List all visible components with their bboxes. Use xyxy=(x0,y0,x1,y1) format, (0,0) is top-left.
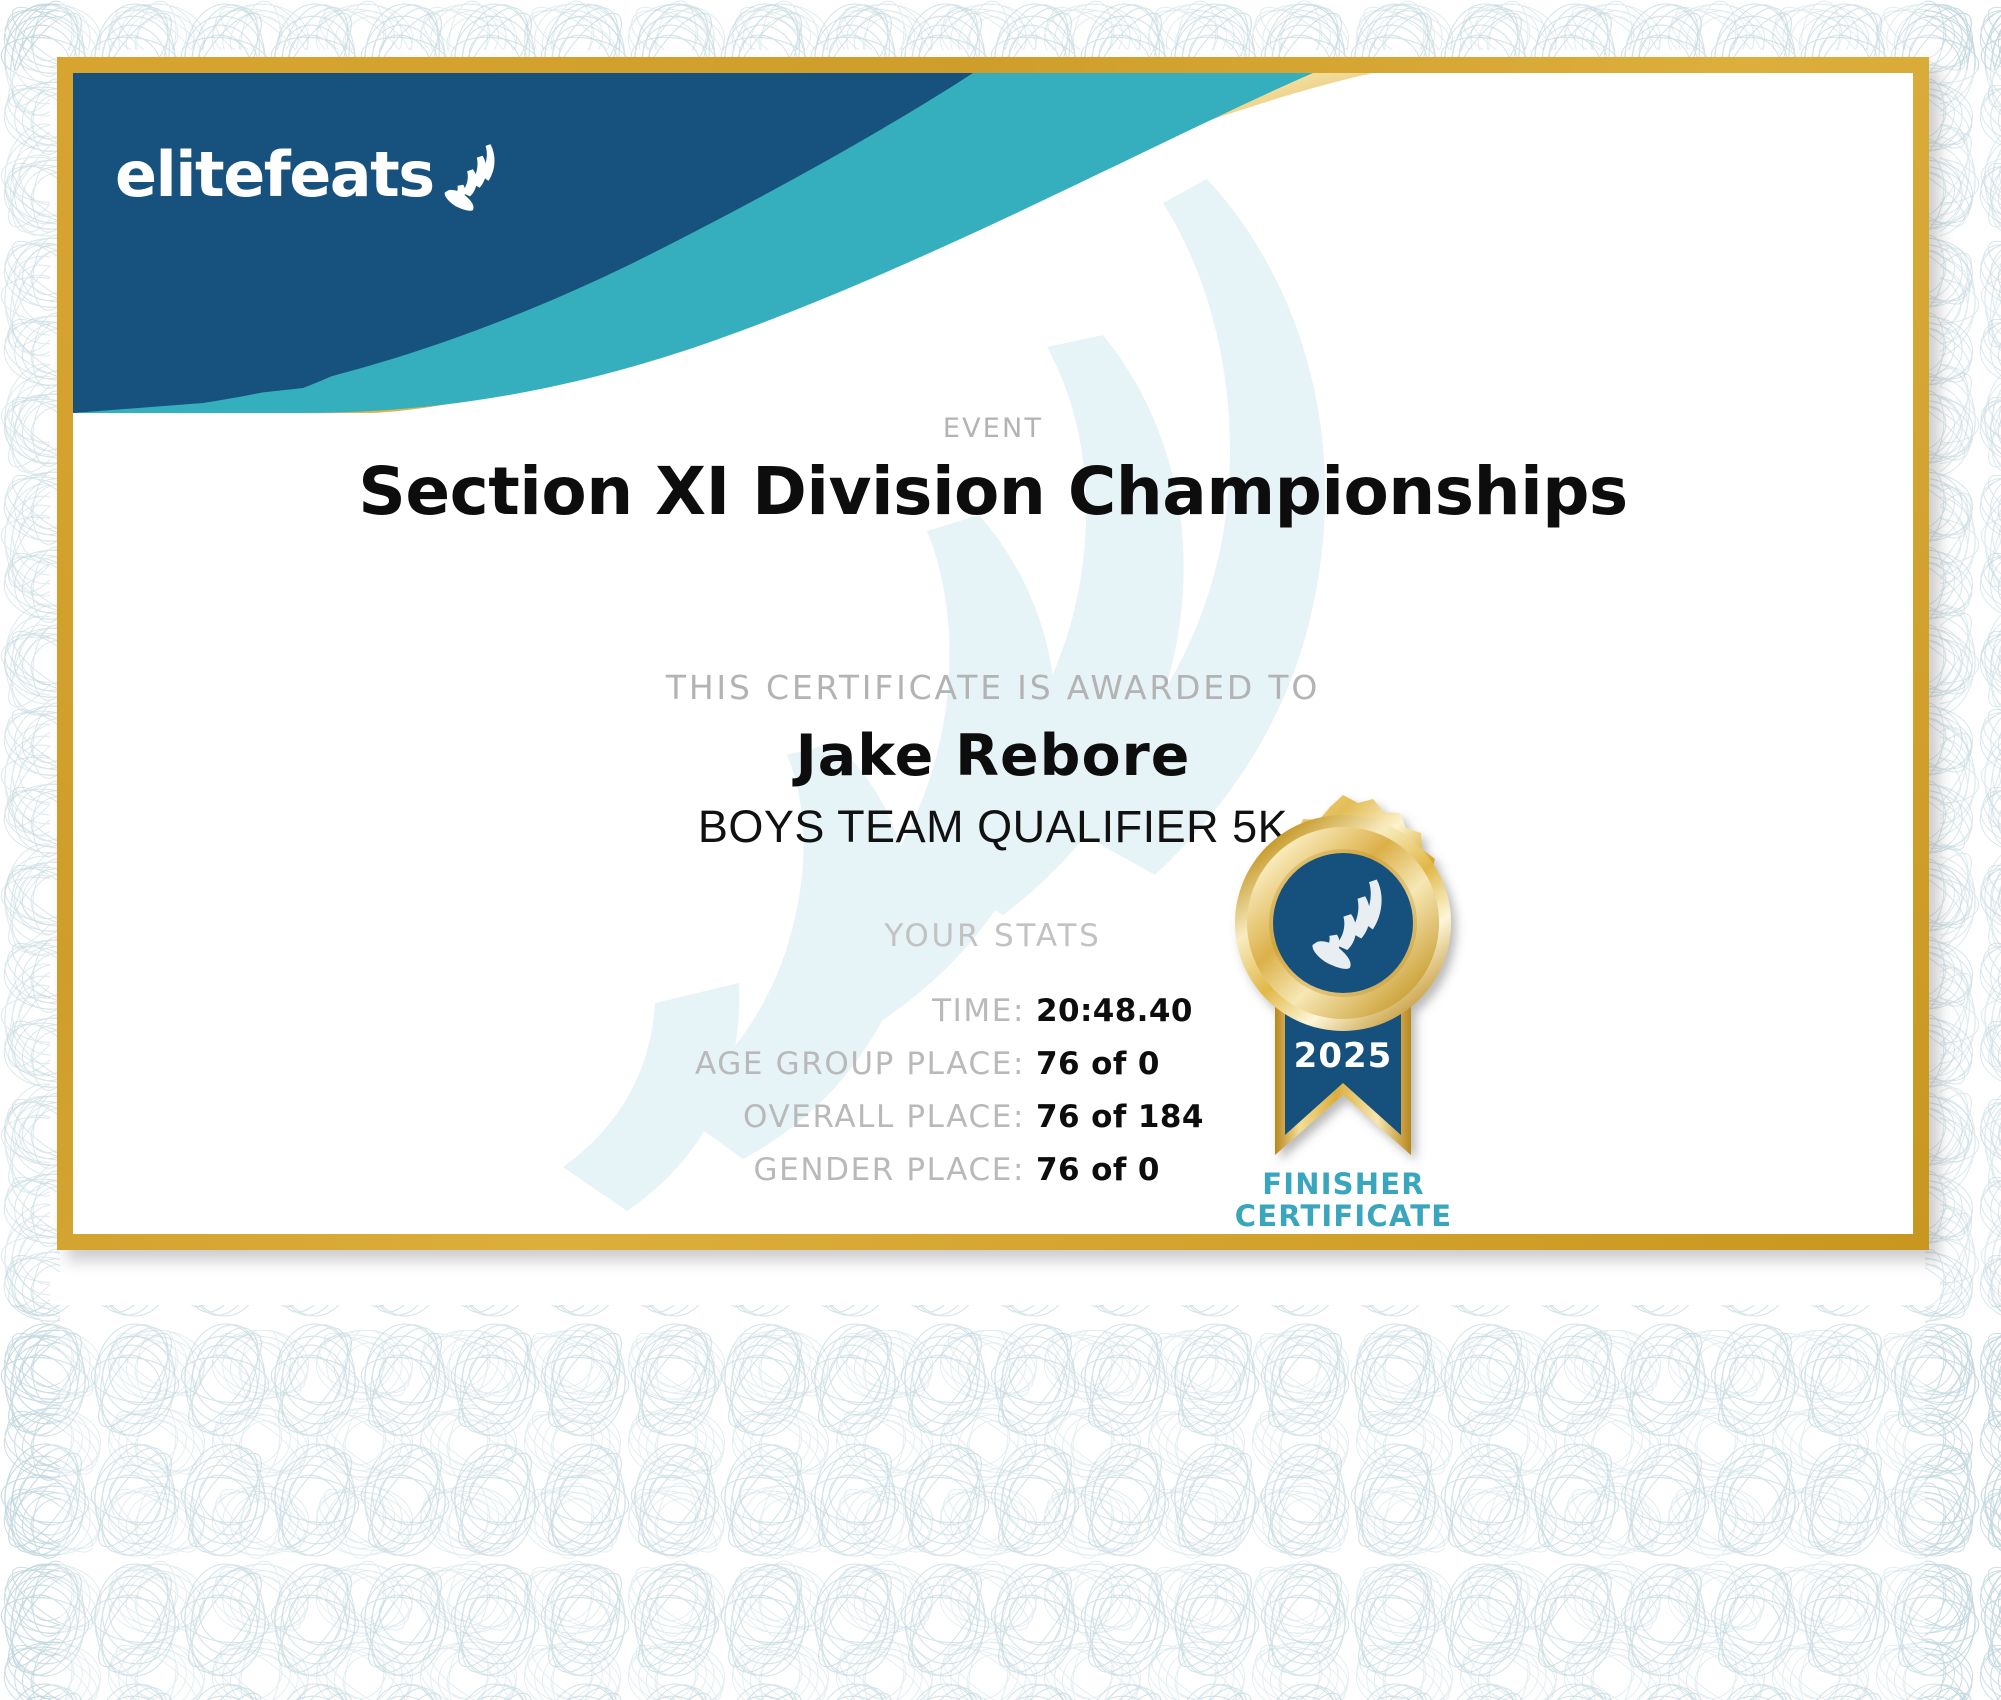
stat-value: 76 of 0 xyxy=(1036,1152,1160,1188)
stat-label: AGE GROUP PLACE: xyxy=(73,1046,1025,1082)
stat-label: GENDER PLACE: xyxy=(73,1152,1025,1188)
awarded-to-label: THIS CERTIFICATE IS AWARDED TO xyxy=(73,668,1913,707)
stat-row: AGE GROUP PLACE: 76 of 0 xyxy=(73,1046,1913,1082)
brand-logo: elitefeats xyxy=(115,136,502,214)
badge-caption: FINISHER CERTIFICATE xyxy=(1181,1168,1506,1233)
certificate-page: elitefeats EVENT Section xyxy=(0,0,2001,1700)
badge-caption-line2: CERTIFICATE xyxy=(1181,1200,1506,1232)
certificate-inner-canvas: elitefeats EVENT Section xyxy=(73,73,1913,1234)
certificate-gold-frame: elitefeats EVENT Section xyxy=(57,57,1929,1250)
stat-row: TIME: 20:48.40 xyxy=(73,993,1913,1029)
winged-foot-icon xyxy=(440,142,502,214)
stat-row: OVERALL PLACE: 76 of 184 xyxy=(73,1099,1913,1135)
recipient-name: Jake Rebore xyxy=(73,723,1913,789)
event-label: EVENT xyxy=(73,413,1913,444)
stat-row: GENDER PLACE: 76 of 0 xyxy=(73,1152,1913,1188)
your-stats-label: YOUR STATS xyxy=(73,918,1913,954)
recipient-division: BOYS TEAM QUALIFIER 5K xyxy=(73,801,1913,853)
stat-label: TIME: xyxy=(73,993,1025,1029)
brand-wordmark: elitefeats xyxy=(115,144,434,206)
badge-year: 2025 xyxy=(1294,1036,1393,1076)
stat-value: 76 of 184 xyxy=(1036,1099,1204,1135)
header-swoosh-graphic xyxy=(73,73,1373,413)
gold-medal-rosette-icon: 2025 xyxy=(1203,795,1483,1205)
badge-caption-line1: FINISHER xyxy=(1181,1168,1506,1200)
stat-label: OVERALL PLACE: xyxy=(73,1099,1025,1135)
event-title: Section XI Division Championships xyxy=(73,453,1913,530)
stat-value: 76 of 0 xyxy=(1036,1046,1160,1082)
stat-value: 20:48.40 xyxy=(1036,993,1193,1029)
stats-list: TIME: 20:48.40 AGE GROUP PLACE: 76 of 0 … xyxy=(73,993,1913,1205)
